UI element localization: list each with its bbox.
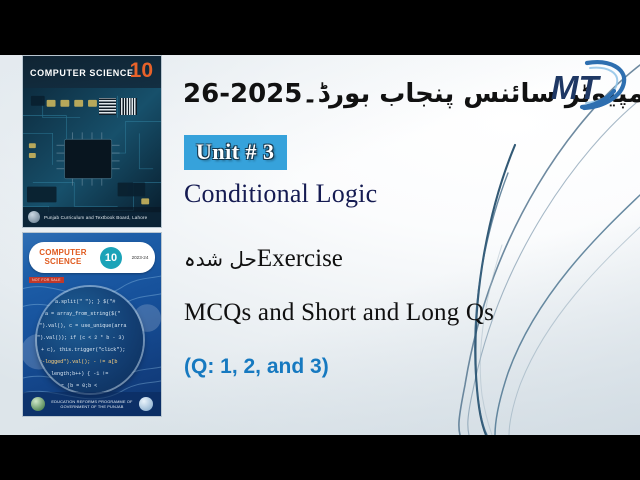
unit-badge-label: Unit # 3 xyxy=(196,139,275,164)
book-bottom-year: 2023-24 xyxy=(125,255,155,260)
code-line: + c), this.trigger("click"); xyxy=(41,347,125,353)
book-bottom-footer-text: EDUCATION REFORMS PROGRAMME OF GOVERNMEN… xyxy=(51,399,132,410)
book-top-header: COMPUTER SCIENCE 10 xyxy=(23,56,161,92)
slide-canvas: COMPUTER SCIENCE 10 Punjab Curriculum an… xyxy=(0,55,640,435)
exercise-urdu-label: حل شدہ xyxy=(184,247,257,271)
code-magnifier-artwork: a.split(" "); } $("# a = array_from_stri… xyxy=(37,287,143,393)
code-line: ").val(), c = use_unique(arra xyxy=(39,323,126,329)
exercise-label: Exercise xyxy=(257,245,343,272)
book-top-board-text: Punjab Curriculum and Textbook Board, La… xyxy=(44,215,147,220)
govt-seal-left-icon xyxy=(31,397,45,411)
topic-title: Conditional Logic xyxy=(184,179,377,209)
book-bottom-grade: 10 xyxy=(100,247,122,269)
book-top-grade: 10 xyxy=(130,60,153,81)
book-bottom-footer: EDUCATION REFORMS PROGRAMME OF GOVERNMEN… xyxy=(23,392,161,416)
code-line: a = array_from_string($(" xyxy=(45,311,120,317)
video-thumbnail: COMPUTER SCIENCE 10 Punjab Curriculum an… xyxy=(0,0,640,480)
unit-badge: Unit # 3 xyxy=(184,135,287,170)
questions-label: MCQs and Short and Long Qs xyxy=(184,299,494,327)
book-cover-bottom: COMPUTER SCIENCE 10 2023-24 NOT FOR SALE… xyxy=(22,232,162,417)
board-seal-icon xyxy=(28,211,40,223)
mt-logo-text: MT xyxy=(551,69,601,106)
exercise-line: حل شدہExercise xyxy=(184,245,343,273)
mt-logo: MT xyxy=(546,55,628,117)
code-line: c.length;b++) { -1 != xyxy=(45,371,108,377)
book-cover-top: COMPUTER SCIENCE 10 Punjab Curriculum an… xyxy=(22,55,162,228)
book-bottom-title-band: COMPUTER SCIENCE 10 2023-24 xyxy=(29,242,155,273)
book-bottom-subject: COMPUTER SCIENCE xyxy=(29,249,97,267)
not-for-sale-badge: NOT FOR SALE xyxy=(29,277,64,283)
code-line: ").val()); if (c < 2 * b - 3) xyxy=(37,335,124,341)
book-top-subject: COMPUTER SCIENCE xyxy=(30,68,134,78)
barcode-icon xyxy=(120,98,137,115)
book-top-board-strip: Punjab Curriculum and Textbook Board, La… xyxy=(23,207,161,227)
code-line: r-logged").val(); - != a[b xyxy=(39,359,117,365)
code-line: a.split(" "); } $("# xyxy=(55,299,115,305)
question-numbers: (Q: 1, 2, and 3) xyxy=(184,355,329,379)
qr-code-icon xyxy=(99,98,116,115)
code-line: for (b = 0;b < xyxy=(55,383,97,389)
book-cover-stack: COMPUTER SCIENCE 10 Punjab Curriculum an… xyxy=(22,55,162,417)
govt-seal-right-icon xyxy=(139,397,153,411)
